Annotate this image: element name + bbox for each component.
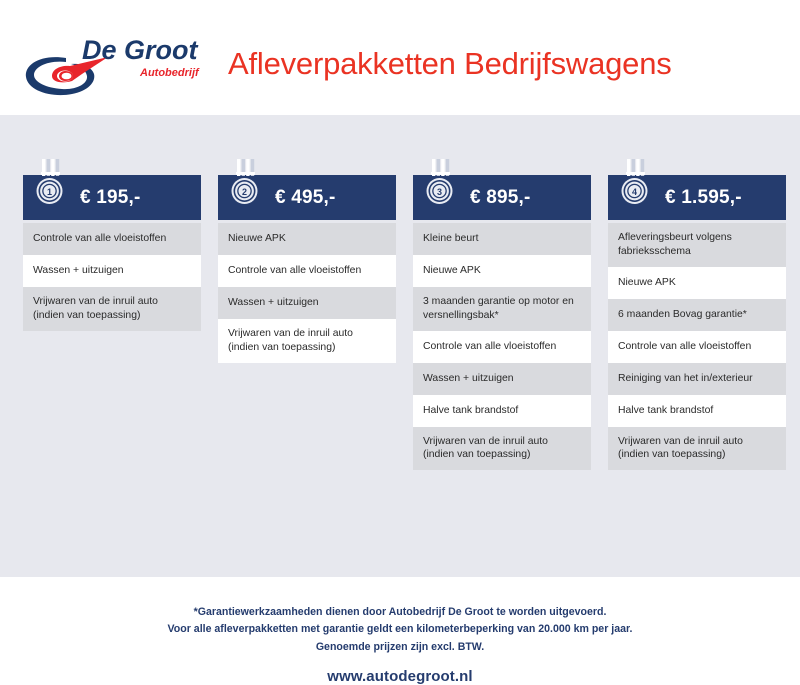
website-link[interactable]: www.autodegroot.nl bbox=[0, 668, 800, 685]
list-item: Controle van alle vloeistoffen bbox=[218, 255, 396, 287]
package-header-4: 4 € 1.595,- bbox=[608, 175, 786, 220]
list-item: Halve tank brandstof bbox=[608, 395, 786, 427]
logo-graphic: De Groot Autobedrijf bbox=[22, 32, 212, 100]
package-column-1: 1 € 195,- Controle van alle vloeistoffen… bbox=[23, 175, 201, 331]
medal-number-2: 2 bbox=[242, 187, 247, 197]
package-price-1: € 195,- bbox=[80, 187, 141, 209]
header-band: De Groot Autobedrijf Afleverpakketten Be… bbox=[0, 0, 800, 115]
list-item: Reiniging van het in/exterieur bbox=[608, 363, 786, 395]
package-price-2: € 495,- bbox=[275, 187, 336, 209]
poster-page: De Groot Autobedrijf Afleverpakketten Be… bbox=[0, 0, 800, 600]
list-item: Nieuwe APK bbox=[413, 255, 591, 287]
de-groot-logo: De Groot Autobedrijf bbox=[22, 32, 212, 100]
list-item: Vrijwaren van de inruil auto (indien van… bbox=[218, 319, 396, 363]
package-column-2: 2 € 495,- Nieuwe APK Controle van alle v… bbox=[218, 175, 396, 363]
disclaimer-line-3: Genoemde prijzen zijn excl. BTW. bbox=[0, 639, 800, 656]
package-price-4: € 1.595,- bbox=[665, 187, 742, 209]
package-column-4: 4 € 1.595,- Afleveringsbeurt volgens fab… bbox=[608, 175, 786, 470]
package-header-2: 2 € 495,- bbox=[218, 175, 396, 220]
package-column-3: 3 € 895,- Kleine beurt Nieuwe APK 3 maan… bbox=[413, 175, 591, 470]
list-item: Wassen + uitzuigen bbox=[413, 363, 591, 395]
medal-icon-3: 3 bbox=[423, 159, 456, 207]
list-item: Kleine beurt bbox=[413, 223, 591, 255]
package-price-3: € 895,- bbox=[470, 187, 531, 209]
package-items-1: Controle van alle vloeistoffen Wassen + … bbox=[23, 220, 201, 331]
list-item: Halve tank brandstof bbox=[413, 395, 591, 427]
medal-number-3: 3 bbox=[437, 187, 442, 197]
list-item: Vrijwaren van de inruil auto (indien van… bbox=[23, 287, 201, 331]
logo-wordmark: De Groot bbox=[82, 35, 199, 65]
list-item: Controle van alle vloeistoffen bbox=[608, 331, 786, 363]
body-band: 1 € 195,- Controle van alle vloeistoffen… bbox=[0, 115, 800, 577]
list-item: Vrijwaren van de inruil auto (indien van… bbox=[413, 427, 591, 471]
medal-number-4: 4 bbox=[632, 187, 637, 197]
list-item: Vrijwaren van de inruil auto (indien van… bbox=[608, 427, 786, 471]
medal-icon-1: 1 bbox=[33, 159, 66, 207]
package-items-4: Afleveringsbeurt volgens fabrieksschema … bbox=[608, 220, 786, 470]
disclaimer-text: *Garantiewerkzaamheden dienen door Autob… bbox=[0, 604, 800, 656]
package-header-3: 3 € 895,- bbox=[413, 175, 591, 220]
medal-icon-4: 4 bbox=[618, 159, 651, 207]
footer-band bbox=[0, 577, 800, 600]
list-item: Wassen + uitzuigen bbox=[23, 255, 201, 287]
list-item: Afleveringsbeurt volgens fabrieksschema bbox=[608, 223, 786, 267]
logo-inner-hole bbox=[62, 73, 72, 80]
package-items-2: Nieuwe APK Controle van alle vloeistoffe… bbox=[218, 220, 396, 363]
package-items-3: Kleine beurt Nieuwe APK 3 maanden garant… bbox=[413, 220, 591, 470]
disclaimer-line-2: Voor alle afleverpakketten met garantie … bbox=[0, 621, 800, 638]
disclaimer-line-1: *Garantiewerkzaamheden dienen door Autob… bbox=[0, 604, 800, 621]
list-item: Wassen + uitzuigen bbox=[218, 287, 396, 319]
medal-icon-2: 2 bbox=[228, 159, 261, 207]
list-item: Nieuwe APK bbox=[608, 267, 786, 299]
logo-subwordmark: Autobedrijf bbox=[139, 67, 200, 79]
page-title: Afleverpakketten Bedrijfswagens bbox=[228, 46, 783, 82]
medal-number-1: 1 bbox=[47, 187, 52, 197]
list-item: Controle van alle vloeistoffen bbox=[413, 331, 591, 363]
list-item: Controle van alle vloeistoffen bbox=[23, 223, 201, 255]
list-item: 6 maanden Bovag garantie* bbox=[608, 299, 786, 331]
package-header-1: 1 € 195,- bbox=[23, 175, 201, 220]
list-item: Nieuwe APK bbox=[218, 223, 396, 255]
list-item: 3 maanden garantie op motor en versnelli… bbox=[413, 287, 591, 331]
